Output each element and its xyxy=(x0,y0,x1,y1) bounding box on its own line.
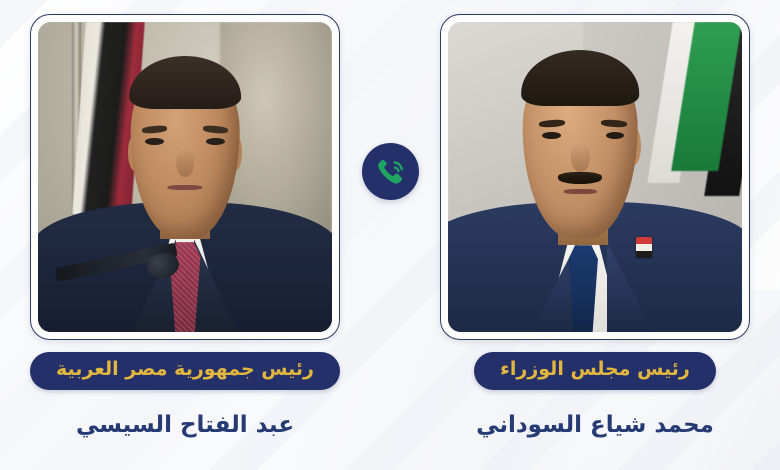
phone-call-badge xyxy=(362,143,419,200)
title-badge-left: رئيس جمهورية مصر العربية xyxy=(30,352,340,390)
left-mouth xyxy=(167,185,202,190)
caption-right: رئيس مجلس الوزراء محمد شياع السوداني xyxy=(440,352,750,439)
right-mouth xyxy=(564,189,596,194)
left-nose xyxy=(176,149,194,177)
portrait-photo-left xyxy=(38,22,332,332)
person-name-right: محمد شياع السوداني xyxy=(440,412,750,440)
title-badge-right: رئيس مجلس الوزراء xyxy=(474,352,716,390)
phone-call-icon xyxy=(374,155,408,189)
iraq-flag-lapel-pin xyxy=(636,237,652,257)
portrait-photo-right xyxy=(448,22,742,332)
person-name-left: عبد الفتاح السيسي xyxy=(30,412,340,440)
leaders-call-card: رئيس جمهورية مصر العربية عبد الفتاح السي… xyxy=(0,0,780,470)
photo-frame-left xyxy=(30,14,340,340)
right-necktie xyxy=(569,245,598,332)
caption-left: رئيس جمهورية مصر العربية عبد الفتاح السي… xyxy=(30,352,340,439)
photo-frame-right xyxy=(440,14,750,340)
